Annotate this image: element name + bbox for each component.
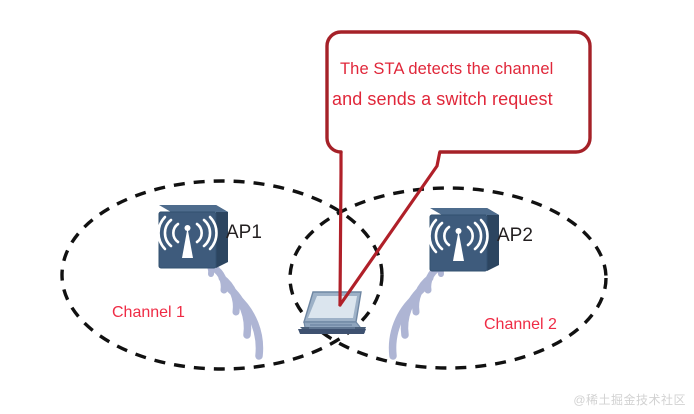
- coverage-label-channel2: Channel 2: [484, 316, 557, 334]
- signal-waves-ap2: [393, 262, 446, 356]
- callout-text-line-2: and sends a switch request: [332, 89, 553, 110]
- callout-text-line-1: The STA detects the channel: [340, 60, 553, 79]
- watermark: @稀土掘金技术社区: [573, 391, 686, 408]
- diagram-canvas: The STA detects the channel and sends a …: [0, 0, 694, 414]
- device-ap1: [159, 205, 228, 268]
- signal-waves-ap1: [206, 262, 259, 356]
- device-label-ap2: AP2: [497, 225, 533, 247]
- device-label-ap1: AP1: [226, 222, 262, 244]
- device-ap2: [430, 208, 499, 271]
- device-laptop-sta: [298, 292, 366, 334]
- coverage-label-channel1: Channel 1: [112, 304, 185, 322]
- callout-tail-left-edge: [340, 151, 341, 305]
